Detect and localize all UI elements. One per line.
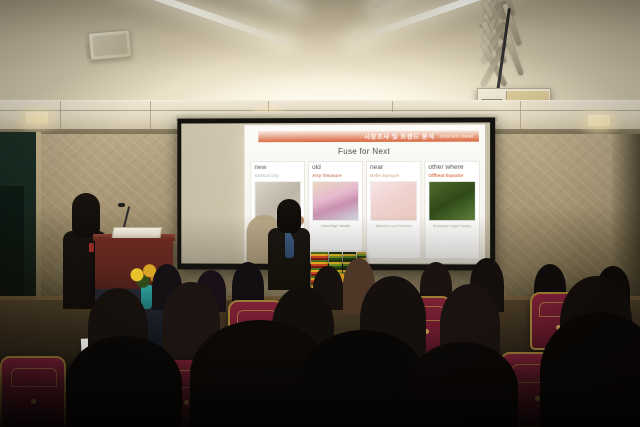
name-badge <box>89 243 94 252</box>
microphone-head-icon <box>118 203 125 207</box>
column-caption: Camouflage Variable <box>312 224 359 228</box>
slide-header-bar: 시장조사 및 트렌드 분석 2014 S/S Trend <box>258 131 479 143</box>
soffit-seam <box>150 101 151 131</box>
screen-surface: 시장조사 및 트렌드 분석 2014 S/S Trend Fuse for Ne… <box>181 122 490 264</box>
column-thumbnail-image <box>312 181 359 221</box>
column-key: other where <box>428 165 476 172</box>
podium-presenter-hair <box>72 193 100 237</box>
column-caption: Woman in Love Feminine <box>370 224 417 228</box>
column-subtitle: Offbeat Equator <box>428 173 476 178</box>
presenter-hair <box>277 199 301 233</box>
column-subtitle: Belle Epoque <box>370 174 417 179</box>
column-thumbnail-image <box>370 181 417 221</box>
conference-room-photo: 시장조사 및 트렌드 분석 2014 S/S Trend Fuse for Ne… <box>0 0 640 427</box>
column-key: old <box>312 165 359 172</box>
column-key: new <box>254 165 301 172</box>
slide-title: Fuse for Next <box>244 147 485 157</box>
slide-header-korean: 시장조사 및 트렌드 분석 <box>364 132 434 141</box>
column-key: near <box>370 165 417 172</box>
ceiling-speaker <box>88 29 132 61</box>
column-thumbnail-image <box>428 181 476 221</box>
soffit-seam <box>520 101 521 131</box>
speaker-grill <box>92 34 128 57</box>
column-subtitle: Optical city <box>254 174 301 179</box>
projection-screen: 시장조사 및 트렌드 분석 2014 S/S Trend Fuse for Ne… <box>177 117 495 270</box>
audience-member-foreground <box>406 342 518 427</box>
slide-column-other-where: other where Offbeat Equator Enchanted Ju… <box>424 161 480 260</box>
column-caption: Enchanted Jungle Fantasy <box>428 224 476 228</box>
screen-unlit-area <box>181 123 246 264</box>
wall-sconce-light <box>588 115 610 126</box>
wall-sconce-light <box>26 112 48 123</box>
soffit-moulding <box>0 110 640 111</box>
slide-column-near: near Belle Epoque Woman in Love Feminine <box>366 161 421 259</box>
audience-member-foreground <box>66 336 182 427</box>
banquet-chair <box>0 356 66 427</box>
column-subtitle: Arty Treasure <box>312 174 359 179</box>
slide-header-year: 2014 S/S Trend <box>440 134 473 139</box>
slide-column-old: old Arty Treasure Camouflage Variable <box>308 161 363 259</box>
